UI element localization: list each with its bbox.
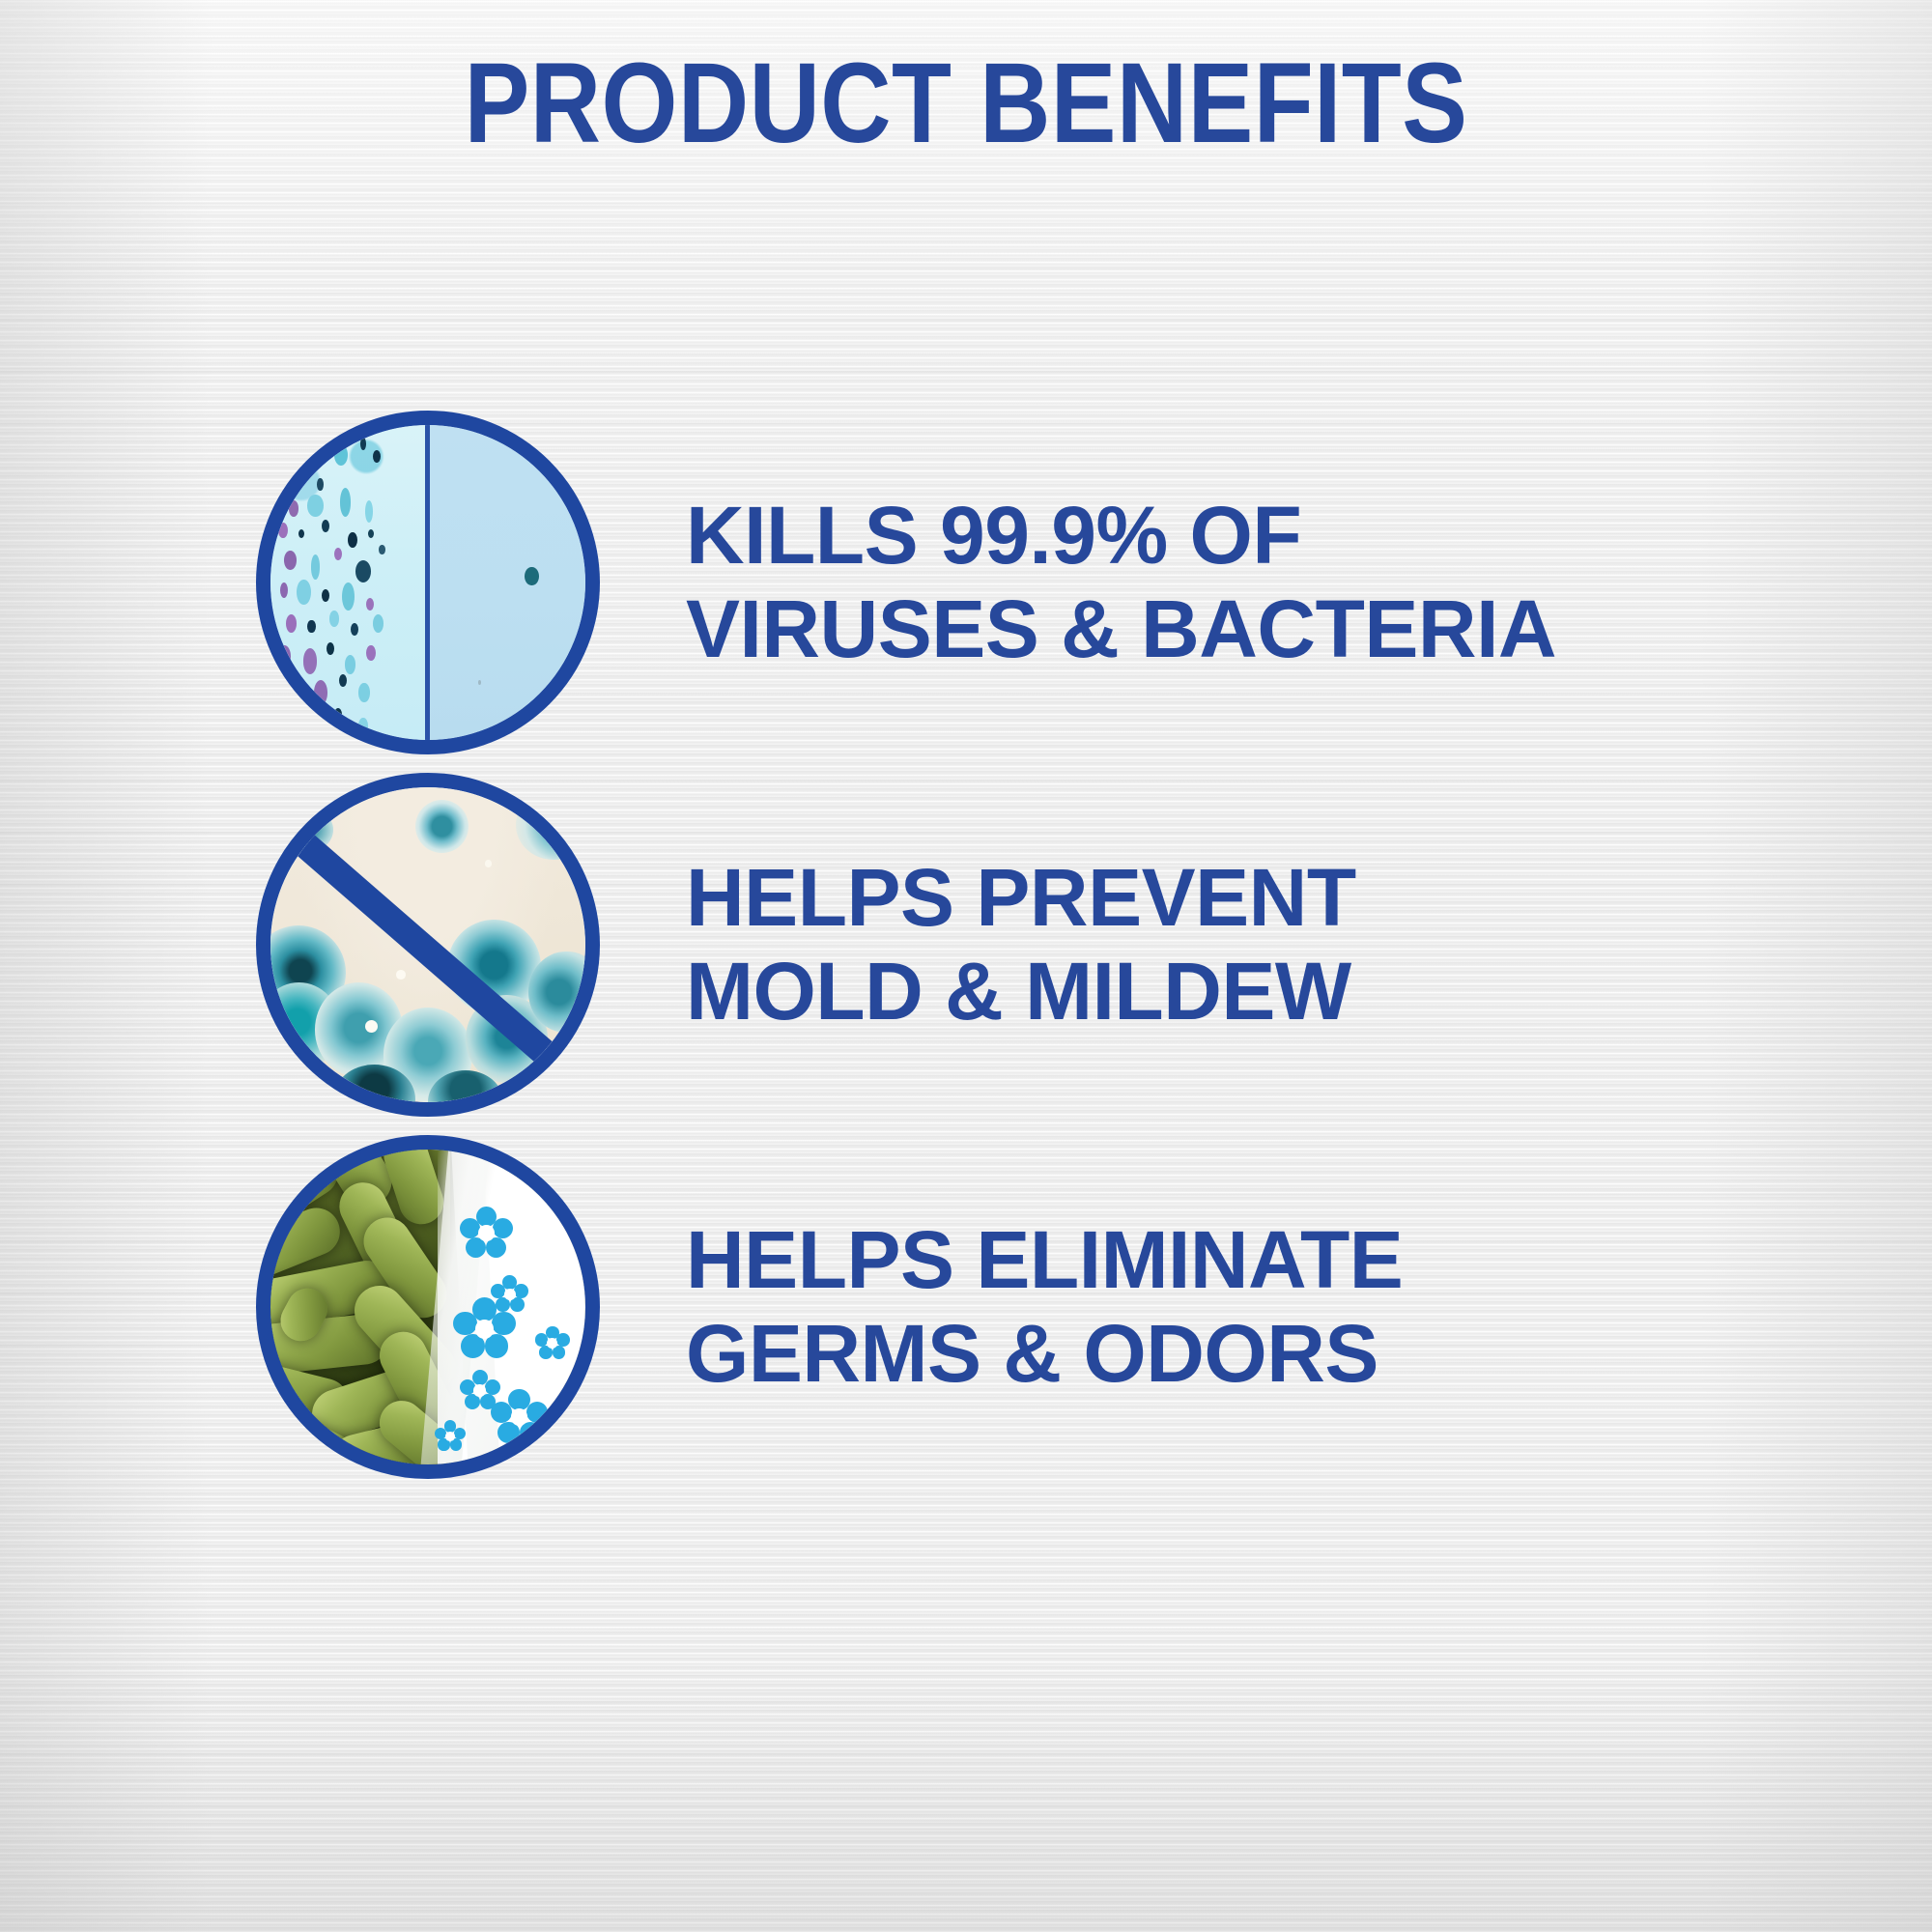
benefit-line-2: VIRUSES & BACTERIA [686, 582, 1826, 676]
benefit-row-kills-viruses-bacteria: KILLS 99.9% OF VIRUSES & BACTERIA [0, 411, 1932, 758]
germy-half [270, 425, 425, 740]
mold-colony [516, 790, 585, 860]
benefit-line-1: HELPS PREVENT [686, 851, 1826, 945]
benefit-line-2: MOLD & MILDEW [686, 945, 1826, 1038]
freshness-flower-icon [460, 1207, 513, 1260]
page-title: PRODUCT BENEFITS [135, 46, 1797, 160]
benefit-text-prevent-mold-mildew: HELPS PREVENT MOLD & MILDEW [686, 773, 1826, 1117]
freshness-flower-icon [435, 1420, 467, 1452]
bacteria-to-freshness-icon [256, 1135, 600, 1479]
freshness-flower-icon [453, 1297, 516, 1360]
benefit-row-prevent-mold-mildew: HELPS PREVENT MOLD & MILDEW [0, 773, 1932, 1121]
freshness-flower-icon [535, 1326, 570, 1361]
freshness-flower-icon [491, 1389, 548, 1446]
benefit-text-kills-viruses-bacteria: KILLS 99.9% OF VIRUSES & BACTERIA [686, 411, 1826, 754]
no-mold-prohibition-icon [256, 773, 600, 1117]
mold-spore-dot [365, 1020, 378, 1033]
split-divider [425, 425, 430, 740]
benefit-text-eliminate-germs-odors: HELPS ELIMINATE GERMS & ODORS [686, 1135, 1826, 1479]
microscope-split-germs-icon [256, 411, 600, 754]
benefit-line-1: KILLS 99.9% OF [686, 489, 1826, 582]
benefit-line-1: HELPS ELIMINATE [686, 1213, 1826, 1307]
clean-half [425, 425, 585, 740]
benefit-row-eliminate-germs-odors: HELPS ELIMINATE GERMS & ODORS [0, 1135, 1932, 1483]
bacteria-half [270, 1150, 450, 1464]
mold-spore-dot [396, 970, 406, 980]
benefit-line-2: GERMS & ODORS [686, 1307, 1826, 1401]
